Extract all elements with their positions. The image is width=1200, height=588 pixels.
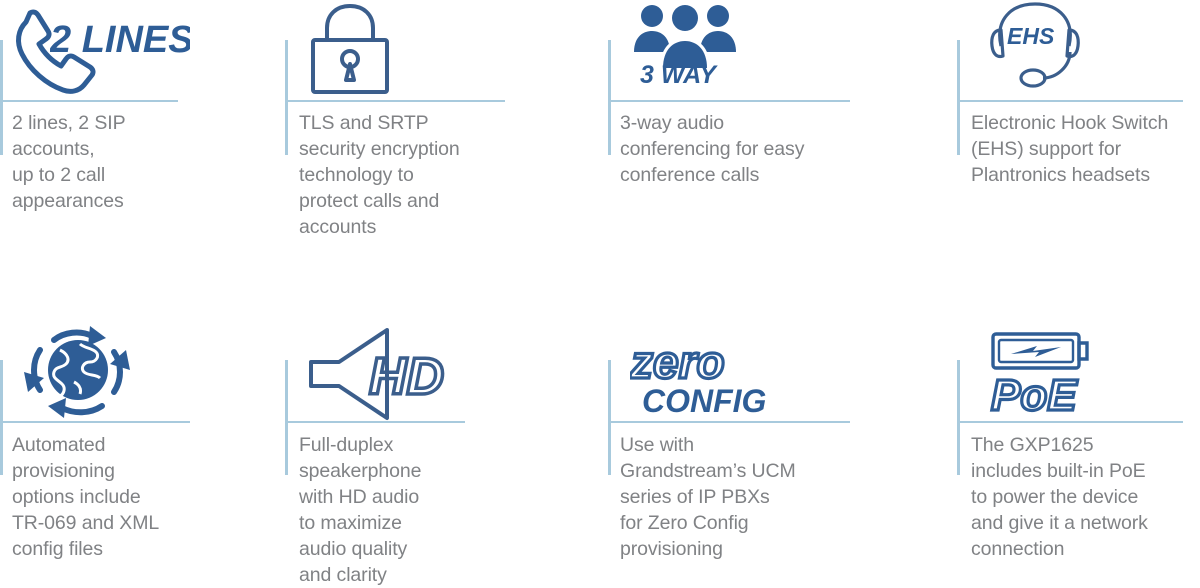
svg-text:3 WAY: 3 WAY <box>640 61 718 89</box>
feature-card-security: TLS and SRTP security encryption technol… <box>285 0 585 290</box>
feature-card-provisioning: Automated provisioning options include T… <box>0 320 280 577</box>
globe-sync-icon <box>18 320 138 425</box>
padlock-icon <box>305 2 395 102</box>
vertical-rule <box>0 40 3 155</box>
zero-config-word-zero: zero <box>630 336 725 388</box>
vertical-rule <box>957 40 960 155</box>
feature-card-hd-audio: HD Full-duplex speakerphone with HD audi… <box>285 320 585 577</box>
vertical-rule <box>285 40 288 155</box>
svg-text:EHS: EHS <box>1007 23 1055 49</box>
feature-card-two-lines: 2 LINES 2 lines, 2 SIP accounts, up to 2… <box>0 0 280 290</box>
horizontal-rule <box>608 100 850 102</box>
zero-config-word-config: CONFIG <box>642 383 766 419</box>
feature-card-three-way: 3 WAY 3-way audio conferencing for easy … <box>608 0 908 290</box>
headset-icon: EHS <box>985 0 1085 97</box>
vertical-rule <box>957 360 960 475</box>
zero-config-icon: zero CONFIG <box>630 334 790 425</box>
feature-description: Use with Grandstream’s UCM series of IP … <box>620 432 915 562</box>
vertical-rule <box>0 360 3 475</box>
vertical-rule <box>608 360 611 475</box>
feature-description: The GXP1625 includes built-in PoE to pow… <box>971 432 1200 562</box>
feature-description: 3-way audio conferencing for easy confer… <box>620 110 910 188</box>
feature-description: Automated provisioning options include T… <box>12 432 282 562</box>
phone-handset-icon-label: 2 LINES <box>50 14 190 69</box>
feature-card-poe: PoE The GXP1625 includes built-in PoE to… <box>957 320 1200 577</box>
feature-description: Full-duplex speakerphone with HD audio t… <box>299 432 549 588</box>
feature-description: Electronic Hook Switch (EHS) support for… <box>971 110 1200 188</box>
svg-text:2 LINES: 2 LINES <box>50 19 190 61</box>
svg-text:PoE: PoE <box>991 371 1078 420</box>
svg-text:HD: HD <box>369 348 444 406</box>
feature-card-ehs: EHS Electronic Hook Switch (EHS) support… <box>957 0 1200 290</box>
feature-description: TLS and SRTP security encryption technol… <box>299 110 584 240</box>
speaker-hd-icon: HD <box>299 324 459 427</box>
feature-description: 2 lines, 2 SIP accounts, up to 2 call ap… <box>12 110 274 214</box>
battery-bolt-icon: PoE <box>987 328 1117 425</box>
feature-card-zero-config: zero CONFIG Use with Grandstream’s UCM s… <box>608 320 908 577</box>
feature-grid: 2 LINES 2 lines, 2 SIP accounts, up to 2… <box>0 0 1200 577</box>
vertical-rule <box>285 360 288 475</box>
horizontal-rule <box>957 100 1183 102</box>
vertical-rule <box>608 40 611 155</box>
three-people-icon-label: 3 WAY <box>640 57 750 96</box>
